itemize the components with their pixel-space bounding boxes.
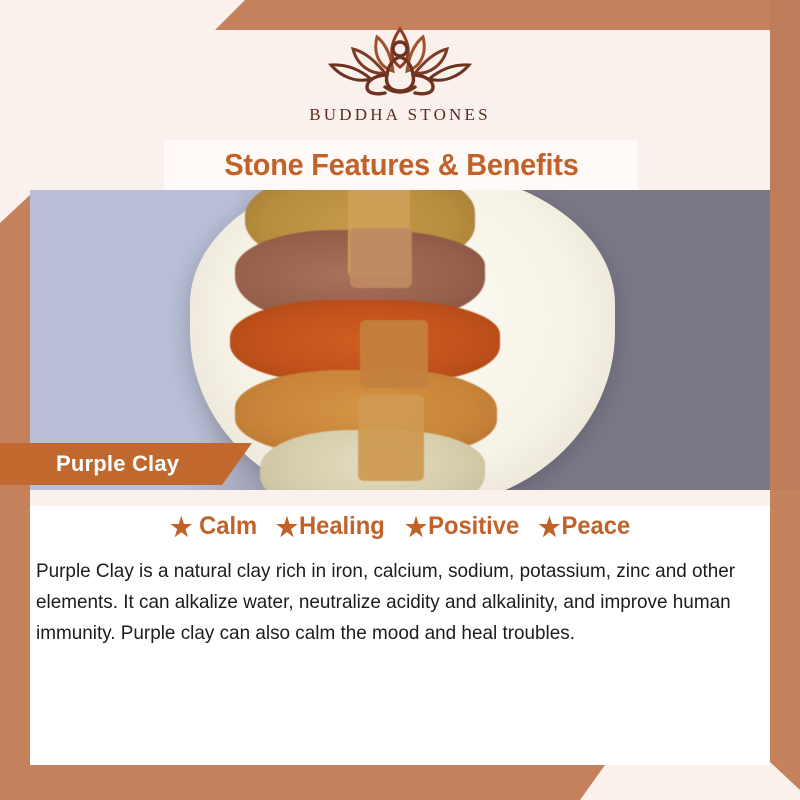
page-title: Stone Features & Benefits [224, 147, 578, 183]
product-name-tab: Purple Clay [0, 443, 252, 485]
benefit-label: Positive [428, 512, 519, 541]
decorative-left-strip [0, 195, 30, 800]
swatch-sand [358, 395, 424, 481]
benefit-label: Healing [299, 512, 385, 541]
benefit-item-calm: ★ Calm [170, 512, 257, 541]
product-description: Purple Clay is a natural clay rich in ir… [36, 556, 742, 649]
star-icon: ★ [170, 514, 192, 540]
benefit-item-healing: ★ Healing [276, 512, 385, 541]
title-banner: Stone Features & Benefits [165, 141, 637, 189]
content-panel: ★ Calm ★ Healing ★ Positive ★ Peace Purp… [30, 490, 770, 765]
star-icon: ★ [538, 514, 560, 540]
swatch-ochre [360, 320, 428, 388]
product-name-label: Purple Clay [56, 451, 179, 477]
benefit-item-positive: ★ Positive [405, 512, 519, 541]
star-icon: ★ [405, 514, 427, 540]
lotus-meditation-icon [315, 21, 485, 101]
decorative-right-strip-lower [770, 490, 800, 790]
benefit-label: Peace [561, 512, 630, 541]
panel-top-divider [30, 490, 770, 506]
brand-name: BUDDHA STONES [309, 105, 491, 125]
swatch-rose [350, 228, 412, 288]
benefits-row: ★ Calm ★ Healing ★ Positive ★ Peace [30, 512, 770, 541]
brand-header: BUDDHA STONES [0, 0, 800, 145]
poster-root: BUDDHA STONES Stone Features & Benefits … [0, 0, 800, 800]
star-icon: ★ [276, 514, 298, 540]
benefit-item-peace: ★ Peace [538, 512, 630, 541]
benefit-label: Calm [199, 512, 257, 541]
